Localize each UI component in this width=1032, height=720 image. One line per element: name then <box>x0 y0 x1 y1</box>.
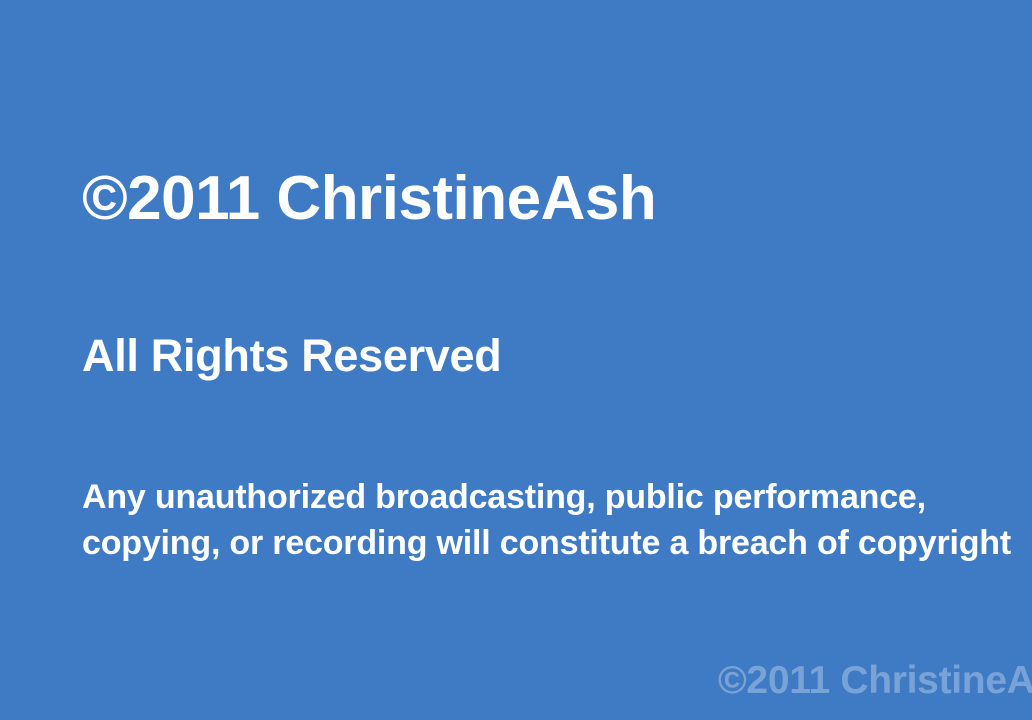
copyright-watermark: ©2011 ChristineAsh <box>718 661 1032 700</box>
copyright-slide: ©2011 ChristineAsh All Rights Reserved A… <box>0 0 1032 720</box>
copyright-title: ©2011 ChristineAsh <box>82 168 656 230</box>
usage-notice-line-1: Any unauthorized broadcasting, public pe… <box>82 474 1032 520</box>
usage-notice: Any unauthorized broadcasting, public pe… <box>82 474 1032 566</box>
usage-notice-line-2: copying, or recording will constitute a … <box>82 520 1032 566</box>
rights-statement: All Rights Reserved <box>82 333 501 378</box>
